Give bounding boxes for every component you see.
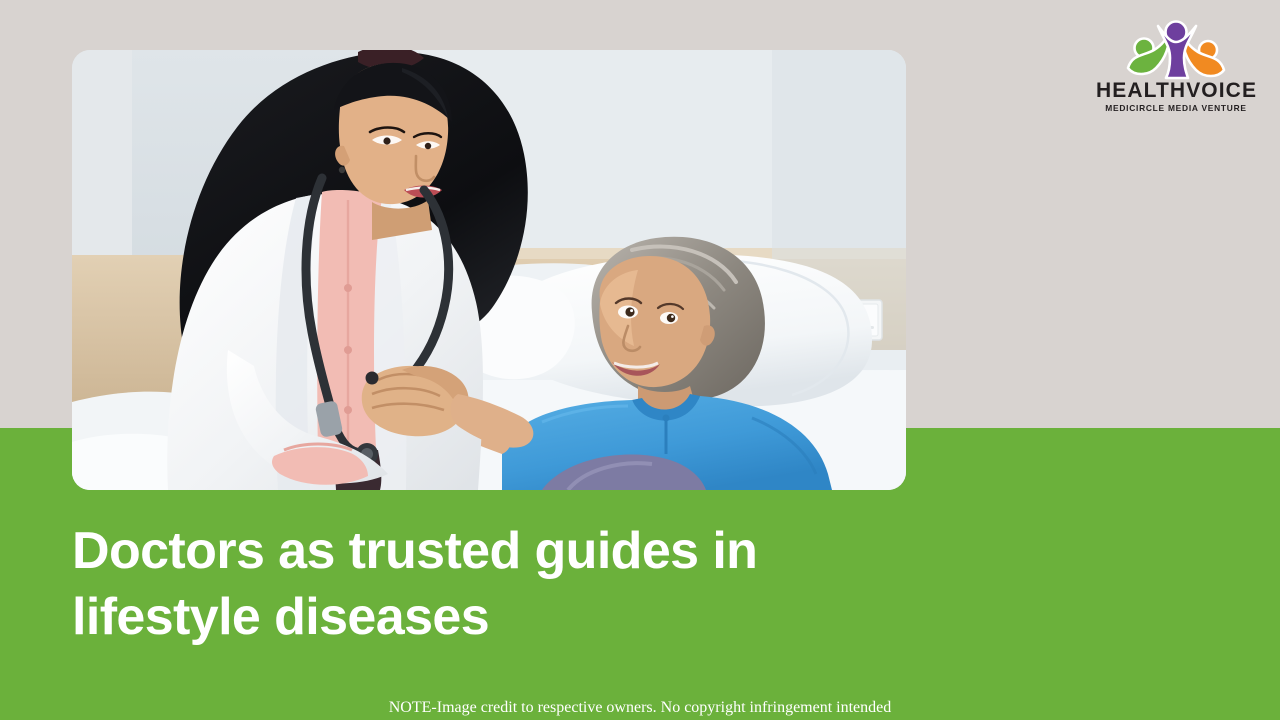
page-title: Doctors as trusted guides in lifestyle d…	[72, 518, 972, 650]
logo-tagline: MEDICIRCLE MEDIA VENTURE	[1096, 104, 1256, 112]
healthvoice-logo[interactable]: HEALTHVOICE MEDICIRCLE MEDIA VENTURE	[1096, 18, 1256, 122]
slide-canvas: HEALTHVOICE MEDICIRCLE MEDIA VENTURE Doc…	[0, 0, 1280, 720]
logo-wordmark: HEALTHVOICE	[1096, 80, 1256, 101]
hero-photo-illustration	[72, 50, 906, 490]
page-title-line-2: lifestyle diseases	[72, 584, 972, 650]
hero-photo	[72, 50, 906, 490]
page-title-line-1: Doctors as trusted guides in	[72, 518, 972, 584]
image-credit-note: NOTE-Image credit to respective owners. …	[0, 698, 1280, 718]
three-people-figures-icon	[1122, 18, 1230, 80]
